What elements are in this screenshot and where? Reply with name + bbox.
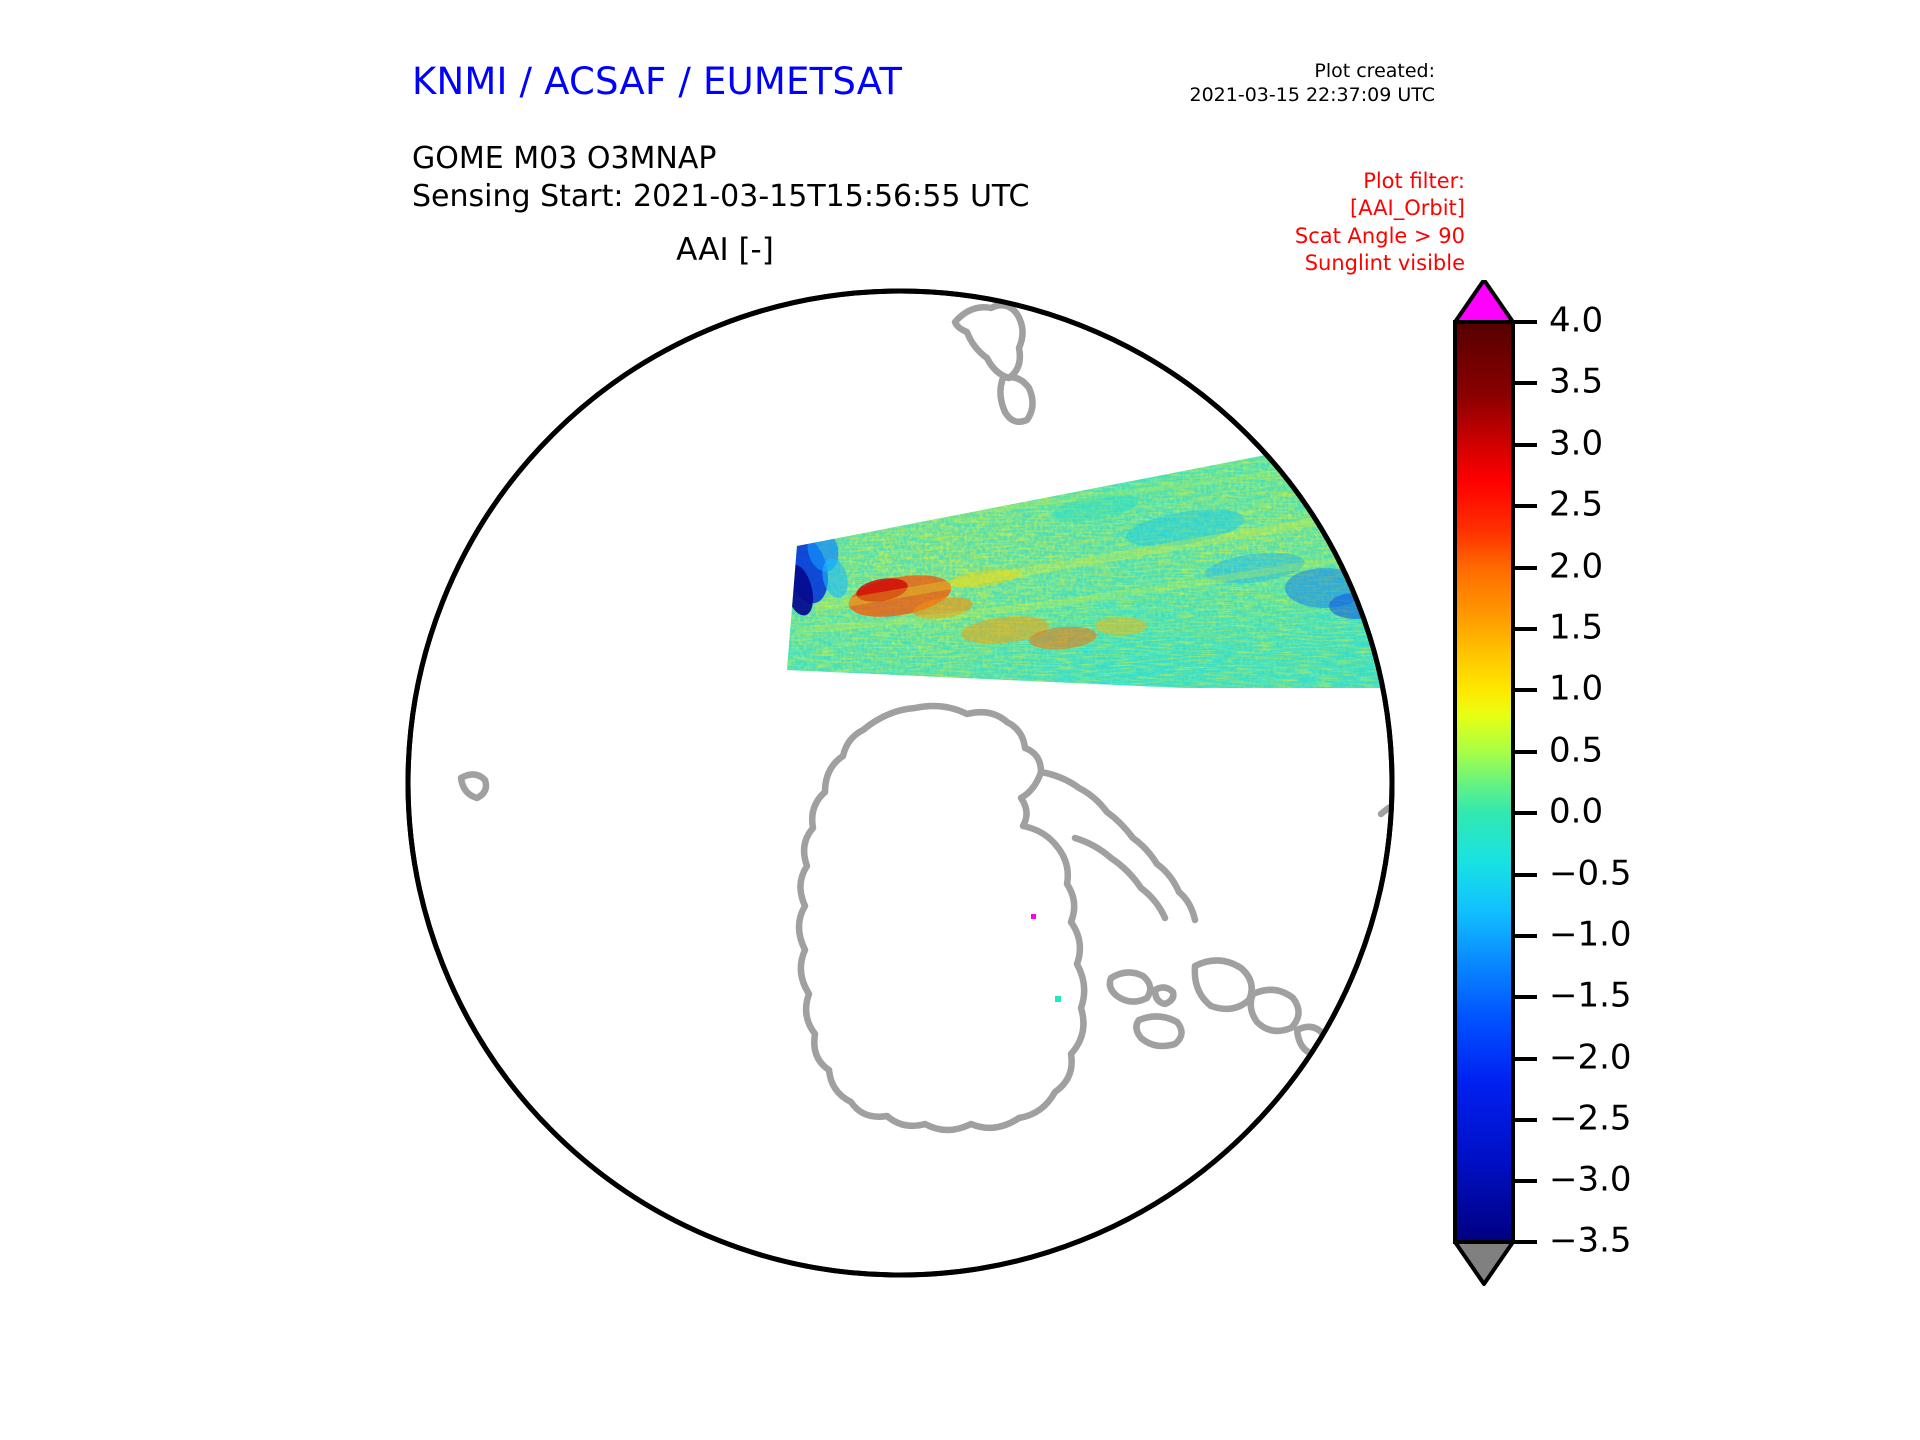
colorbar-tick-label: −3.5 xyxy=(1549,1221,1632,1261)
page-title: AAI [-] xyxy=(0,232,1450,268)
plot-filter-dataset: [AAI_Orbit] xyxy=(1295,195,1465,222)
globe-outline xyxy=(408,291,1392,1275)
product-info-block: GOME M03 O3MNAP Sensing Start: 2021-03-1… xyxy=(412,140,1029,217)
colorbar-tick-label: 2.5 xyxy=(1549,485,1603,525)
colorbar-gradient xyxy=(1455,322,1513,1242)
colorbar-tick-label: 3.0 xyxy=(1549,424,1603,464)
colorbar-tick-label: 2.0 xyxy=(1549,547,1603,587)
colorbar-tick-label: −2.5 xyxy=(1549,1099,1632,1139)
colorbar-tick-labels: 4.0 3.5 3.0 2.5 2.0 1.5 1.0 0.5 0.0 −0.5… xyxy=(1549,301,1632,1261)
plot-created-label: Plot created: xyxy=(1190,60,1436,84)
product-name: GOME M03 O3MNAP xyxy=(412,140,1029,178)
colorbar-ticks xyxy=(1513,322,1537,1242)
plot-filter-scat-angle: Scat Angle > 90 xyxy=(1295,223,1465,250)
colorbar-tick-label: −0.5 xyxy=(1549,854,1632,894)
plot-created-timestamp: 2021-03-15 22:37:09 UTC xyxy=(1190,84,1436,108)
stray-pixel-magenta xyxy=(1031,914,1036,919)
stray-pixel-cyan xyxy=(1055,996,1061,1002)
plot-created-block: Plot created: 2021-03-15 22:37:09 UTC xyxy=(1190,60,1436,108)
sensing-start: Sensing Start: 2021-03-15T15:56:55 UTC xyxy=(412,178,1029,216)
colorbar-tick-label: 4.0 xyxy=(1549,301,1603,341)
colorbar-tick-label: 3.5 xyxy=(1549,362,1603,402)
plot-filter-block: Plot filter: [AAI_Orbit] Scat Angle > 90… xyxy=(1295,168,1465,277)
colorbar-tick-label: −3.0 xyxy=(1549,1160,1632,1200)
colorbar-tick-label: −1.5 xyxy=(1549,976,1632,1016)
plot-filter-label: Plot filter: xyxy=(1295,168,1465,195)
colorbar-tick-label: 1.5 xyxy=(1549,608,1603,648)
colorbar-over-arrow xyxy=(1455,280,1513,322)
colorbar-tick-label: 0.0 xyxy=(1549,792,1603,832)
plot-filter-sunglint: Sunglint visible xyxy=(1295,250,1465,277)
colorbar-tick-label: −2.0 xyxy=(1549,1038,1632,1078)
colorbar-under-arrow xyxy=(1455,1242,1513,1284)
colorbar-tick-label: 0.5 xyxy=(1549,731,1603,771)
colorbar-panel[interactable]: 4.0 3.5 3.0 2.5 2.0 1.5 1.0 0.5 0.0 −0.5… xyxy=(1437,280,1857,1300)
map-panel[interactable] xyxy=(395,278,1405,1288)
institutes-title: KNMI / ACSAF / EUMETSAT xyxy=(412,60,902,103)
colorbar-tick-label: −1.0 xyxy=(1549,915,1632,955)
colorbar-tick-label: 1.0 xyxy=(1549,669,1603,709)
